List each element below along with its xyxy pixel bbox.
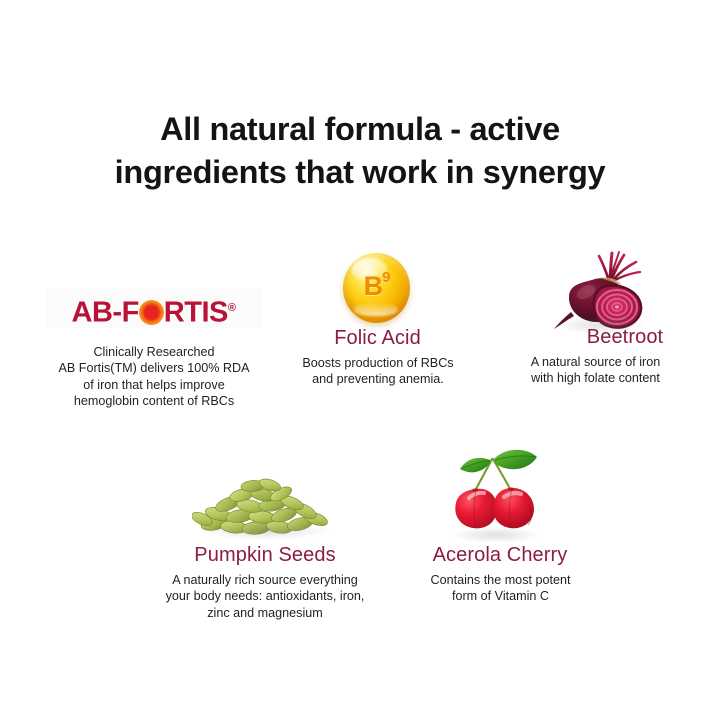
desc-line: with high folate content bbox=[508, 370, 683, 386]
page-title-line-2: ingredients that work in synergy bbox=[0, 151, 720, 194]
pumpkin-seeds-heading: Pumpkin Seeds bbox=[150, 544, 380, 567]
cherry-shadow bbox=[450, 527, 542, 543]
desc-line: your body needs: antioxidants, iron, bbox=[140, 588, 390, 604]
desc-line: of iron that helps improve bbox=[34, 377, 274, 393]
desc-line: Contains the most potent bbox=[408, 572, 593, 588]
beetroot-icon bbox=[548, 250, 658, 335]
folic-acid-heading: Folic Acid bbox=[285, 327, 470, 350]
beetroot-description: A natural source of iron with high folat… bbox=[508, 354, 683, 387]
page-title-line-1: All natural formula - active bbox=[0, 108, 720, 151]
ab-fortis-description: Clinically Researched AB Fortis(TM) deli… bbox=[34, 344, 274, 410]
registered-trademark-icon: ® bbox=[228, 302, 236, 314]
folic-acid-description: Boosts production of RBCs and preventing… bbox=[283, 355, 473, 388]
b9-vitamin-sphere-icon: B9 bbox=[343, 253, 410, 323]
acerola-cherry-icon bbox=[440, 445, 552, 543]
desc-line: and preventing anemia. bbox=[283, 371, 473, 387]
b9-letter: B bbox=[364, 271, 383, 302]
desc-line: A natural source of iron bbox=[508, 354, 683, 370]
b9-label: B9 bbox=[343, 253, 410, 323]
b9-superscript: 9 bbox=[382, 269, 389, 286]
desc-line: Clinically Researched bbox=[34, 344, 274, 360]
acerola-cherry-heading: Acerola Cherry bbox=[400, 544, 600, 567]
desc-line: Boosts production of RBCs bbox=[283, 355, 473, 371]
desc-line: hemoglobin content of RBCs bbox=[34, 393, 274, 409]
ab-fortis-logo-text: AB-FRTIS® bbox=[46, 288, 261, 333]
desc-line: form of Vitamin C bbox=[408, 588, 593, 604]
infographic-page: All natural formula - active ingredients… bbox=[0, 0, 720, 720]
ab-fortis-logo-text-before: AB-F bbox=[72, 297, 139, 329]
pumpkin-seeds-description: A naturally rich source everything your … bbox=[140, 572, 390, 621]
ab-fortis-logo: AB-FRTIS® bbox=[46, 288, 261, 328]
desc-line: AB Fortis(TM) delivers 100% RDA bbox=[34, 360, 274, 376]
logo-sphere-icon bbox=[139, 300, 164, 325]
desc-line: A naturally rich source everything bbox=[140, 572, 390, 588]
seeds-shadow bbox=[198, 522, 332, 540]
pumpkin-seeds-icon bbox=[192, 470, 337, 542]
beetroot-heading: Beetroot bbox=[530, 326, 720, 349]
desc-line: zinc and magnesium bbox=[140, 605, 390, 621]
ab-fortis-logo-text-after: RTIS bbox=[164, 297, 228, 329]
page-title: All natural formula - active ingredients… bbox=[0, 108, 720, 194]
acerola-cherry-description: Contains the most potent form of Vitamin… bbox=[408, 572, 593, 605]
